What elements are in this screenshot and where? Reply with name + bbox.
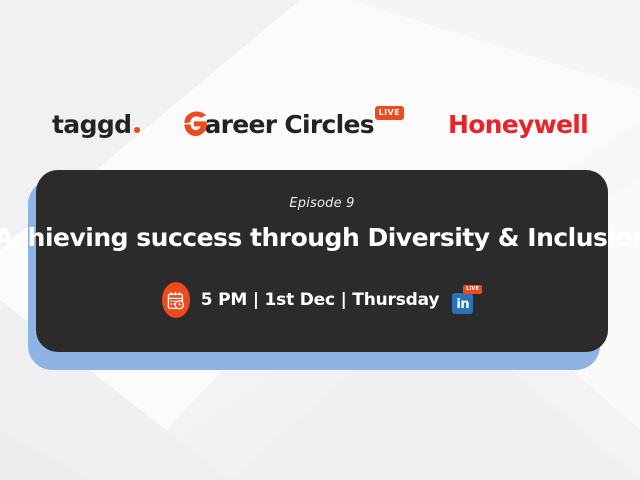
event-datetime-text: 5 PM | 1st Dec | Thursday bbox=[201, 290, 439, 310]
event-card: Episode 9 Achieving success through Dive… bbox=[36, 170, 608, 352]
logo-taggd-wordmark: taggd bbox=[52, 110, 132, 139]
logo-honeywell: Honeywell bbox=[448, 110, 588, 139]
linkedin-icon: in bbox=[452, 293, 473, 314]
page-title: Achieving success through Diversity & In… bbox=[0, 223, 640, 252]
episode-label: Episode 9 bbox=[289, 196, 354, 211]
logo-taggd: taggd bbox=[52, 110, 141, 139]
promo-banner: taggd areer Circles LIVE Honeywell Episo… bbox=[0, 0, 640, 480]
logo-taggd-dot-icon bbox=[134, 127, 140, 133]
logo-career-circles-wordmark: areer Circles bbox=[204, 110, 374, 139]
calendar-clock-icon bbox=[162, 282, 190, 318]
logo-strip: taggd areer Circles LIVE Honeywell bbox=[0, 100, 640, 148]
linkedin-initials: in bbox=[456, 298, 469, 311]
linkedin-live-badge: LIVE bbox=[463, 285, 482, 294]
career-circles-live-badge: LIVE bbox=[375, 106, 404, 120]
logo-career-circles: areer Circles LIVE bbox=[184, 110, 404, 139]
career-circles-c-mark-icon bbox=[184, 111, 208, 137]
event-meta-row: 5 PM | 1st Dec | Thursday in LIVE bbox=[162, 282, 482, 318]
linkedin-live-icon[interactable]: in LIVE bbox=[452, 285, 482, 315]
